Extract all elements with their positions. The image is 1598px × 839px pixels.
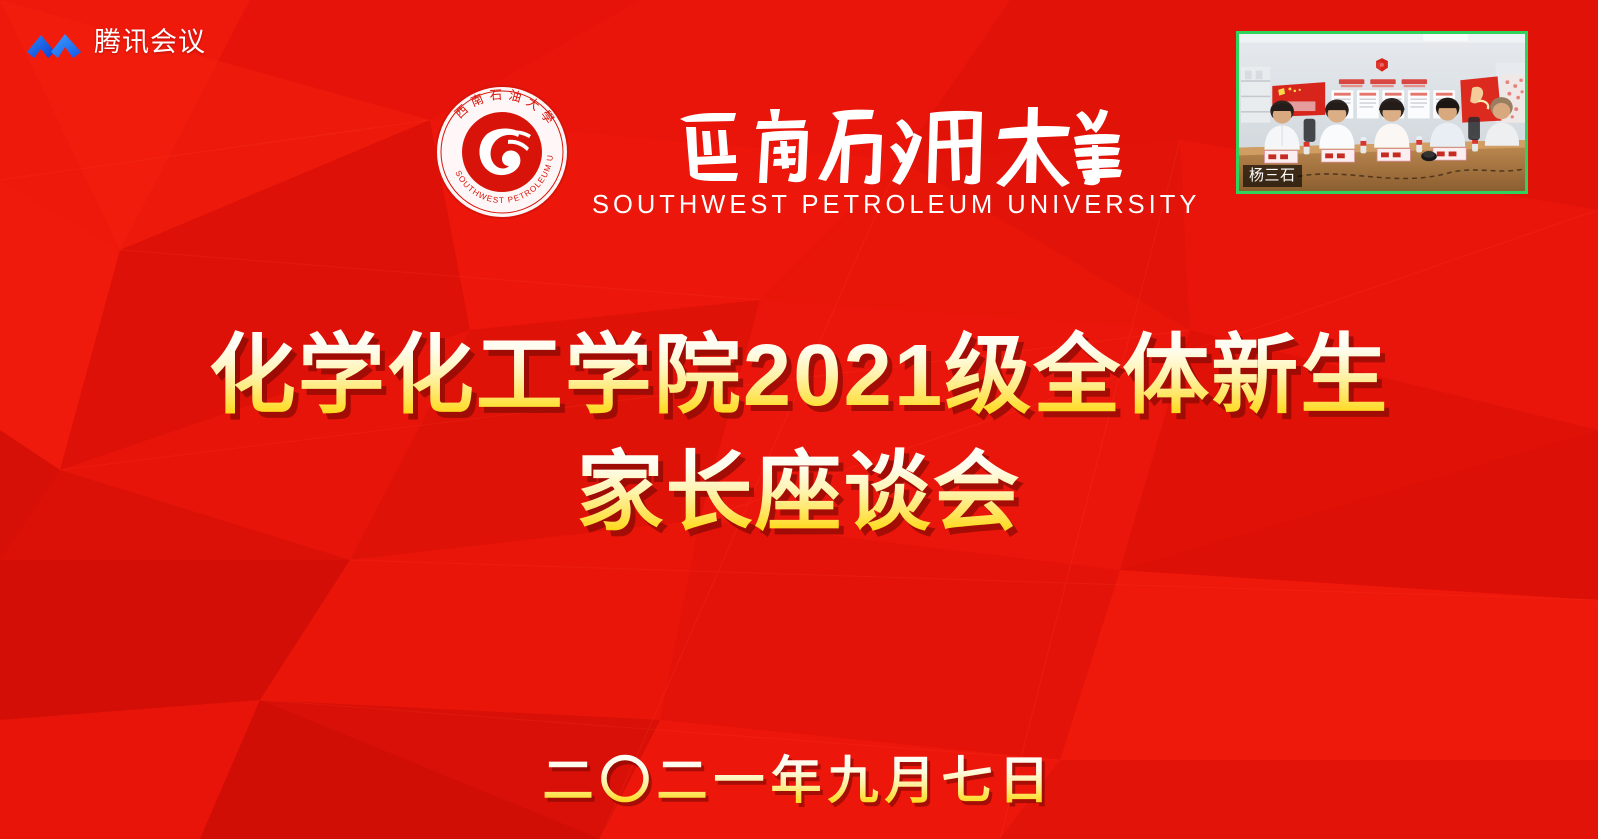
participant-name-badge: 杨三石	[1243, 165, 1302, 187]
tencent-meeting-watermark: 腾讯会议	[26, 22, 206, 62]
presentation-headline: 化学化工学院2021级全体新生 家长座谈会	[0, 318, 1598, 551]
headline-line-2: 家长座谈会	[0, 435, 1598, 552]
university-lockup: 西南石油大學 SOUTHWEST PETROLEUM UNIVERSITY 19…	[432, 82, 1200, 222]
university-name-calligraphy	[670, 89, 1122, 189]
university-name-english: SOUTHWEST PETROLEUM UNIVERSITY	[592, 193, 1200, 219]
meeting-presentation-screen: 腾讯会议 西南石油大學 SOUTHWEST PETROLEUM UNIVERSI…	[0, 0, 1598, 839]
svg-text:1958: 1958	[490, 180, 514, 190]
presentation-date: 二〇二一年九月七日	[0, 750, 1598, 811]
university-name-block: SOUTHWEST PETROLEUM UNIVERSITY	[592, 89, 1200, 219]
tencent-meeting-label: 腾讯会议	[94, 29, 206, 56]
tencent-meeting-logo-icon	[26, 22, 83, 62]
participant-video-tile[interactable]: 杨三石	[1236, 31, 1528, 194]
headline-line-1: 化学化工学院2021级全体新生	[0, 318, 1598, 435]
university-seal-icon: 西南石油大學 SOUTHWEST PETROLEUM UNIVERSITY 19…	[432, 82, 572, 222]
date-text: 二〇二一年九月七日	[542, 750, 1055, 811]
